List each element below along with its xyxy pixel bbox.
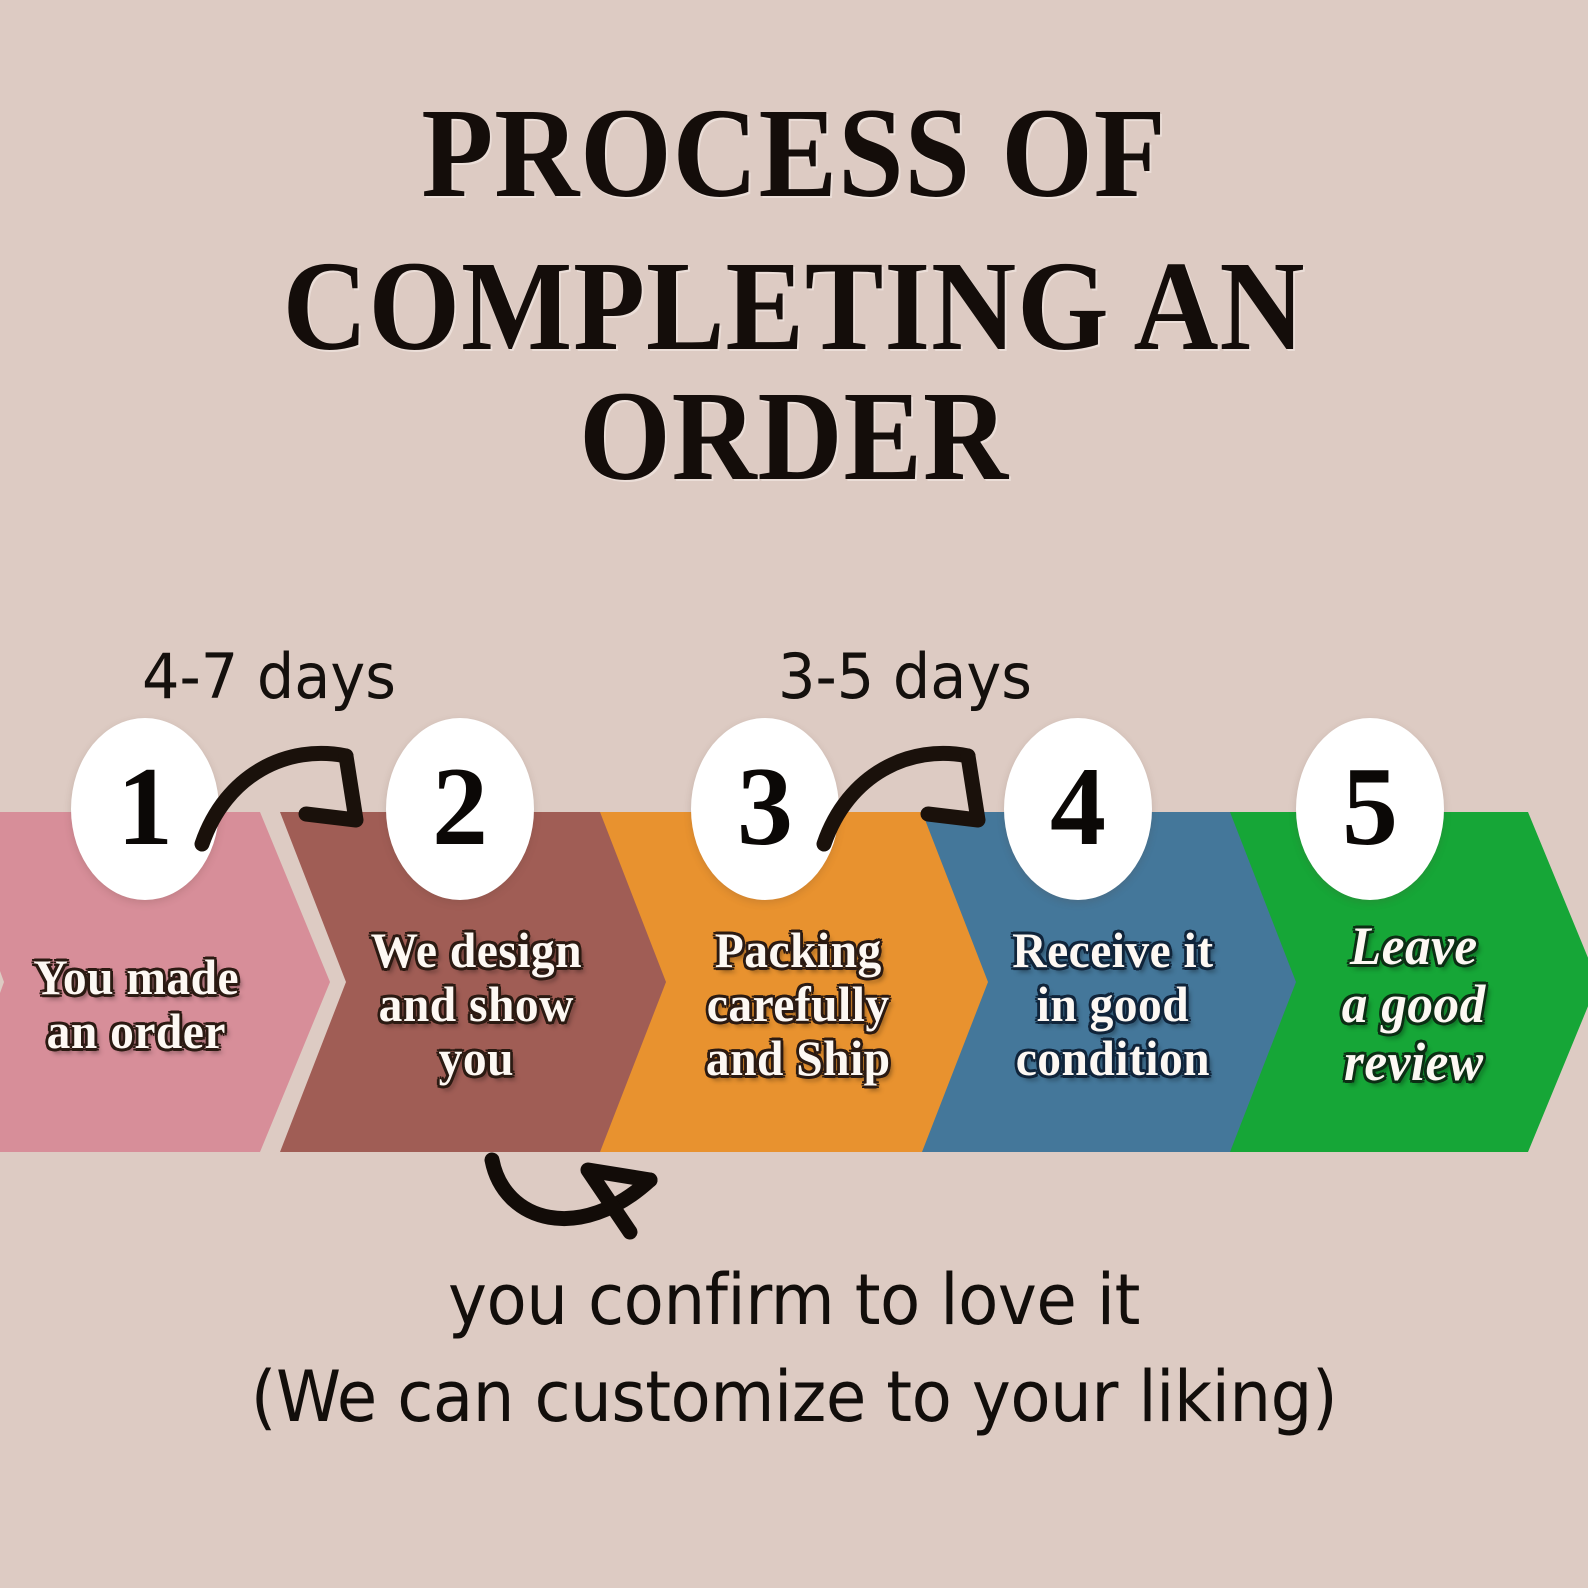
- step-number-badge-2[interactable]: 2: [386, 718, 534, 900]
- process-step-2-label: We design and show you: [370, 879, 581, 1085]
- step-number-2: 2: [432, 751, 488, 863]
- duration-label-step3-step4: 3-5 days: [778, 640, 1032, 713]
- step-number-4: 4: [1050, 751, 1106, 863]
- step-number-1: 1: [117, 751, 173, 863]
- step-number-5: 5: [1342, 751, 1398, 863]
- arrow-step3-to-step4-icon: [818, 736, 1028, 866]
- arrow-caption-to-step3-icon: [482, 1148, 712, 1268]
- process-step-5-label: Leave a good review: [1342, 873, 1486, 1092]
- title-line-1: PROCESS OF: [64, 88, 1525, 219]
- process-step-4-label: Receive it in good condition: [1012, 879, 1213, 1085]
- process-step-1-label: You made an order: [33, 906, 239, 1058]
- arrow-step1-to-step2-icon: [196, 736, 406, 866]
- step-number-badge-3[interactable]: 3: [691, 718, 839, 900]
- duration-label-step1-step2: 4-7 days: [142, 640, 396, 713]
- caption-line-2: (We can customize to your liking): [48, 1355, 1541, 1440]
- page-title: PROCESS OF COMPLETING AN ORDER: [0, 88, 1588, 502]
- step-number-badge-5[interactable]: 5: [1296, 718, 1444, 900]
- title-line-2: COMPLETING AN ORDER: [64, 241, 1525, 502]
- process-step-3-label: Packing carefully and Ship: [706, 879, 891, 1085]
- infographic-canvas: PROCESS OF COMPLETING AN ORDER 4-7 days …: [0, 0, 1588, 1588]
- caption: you confirm to love it (We can customize…: [0, 1258, 1588, 1441]
- step-number-3: 3: [737, 751, 793, 863]
- caption-line-1: you confirm to love it: [48, 1258, 1541, 1343]
